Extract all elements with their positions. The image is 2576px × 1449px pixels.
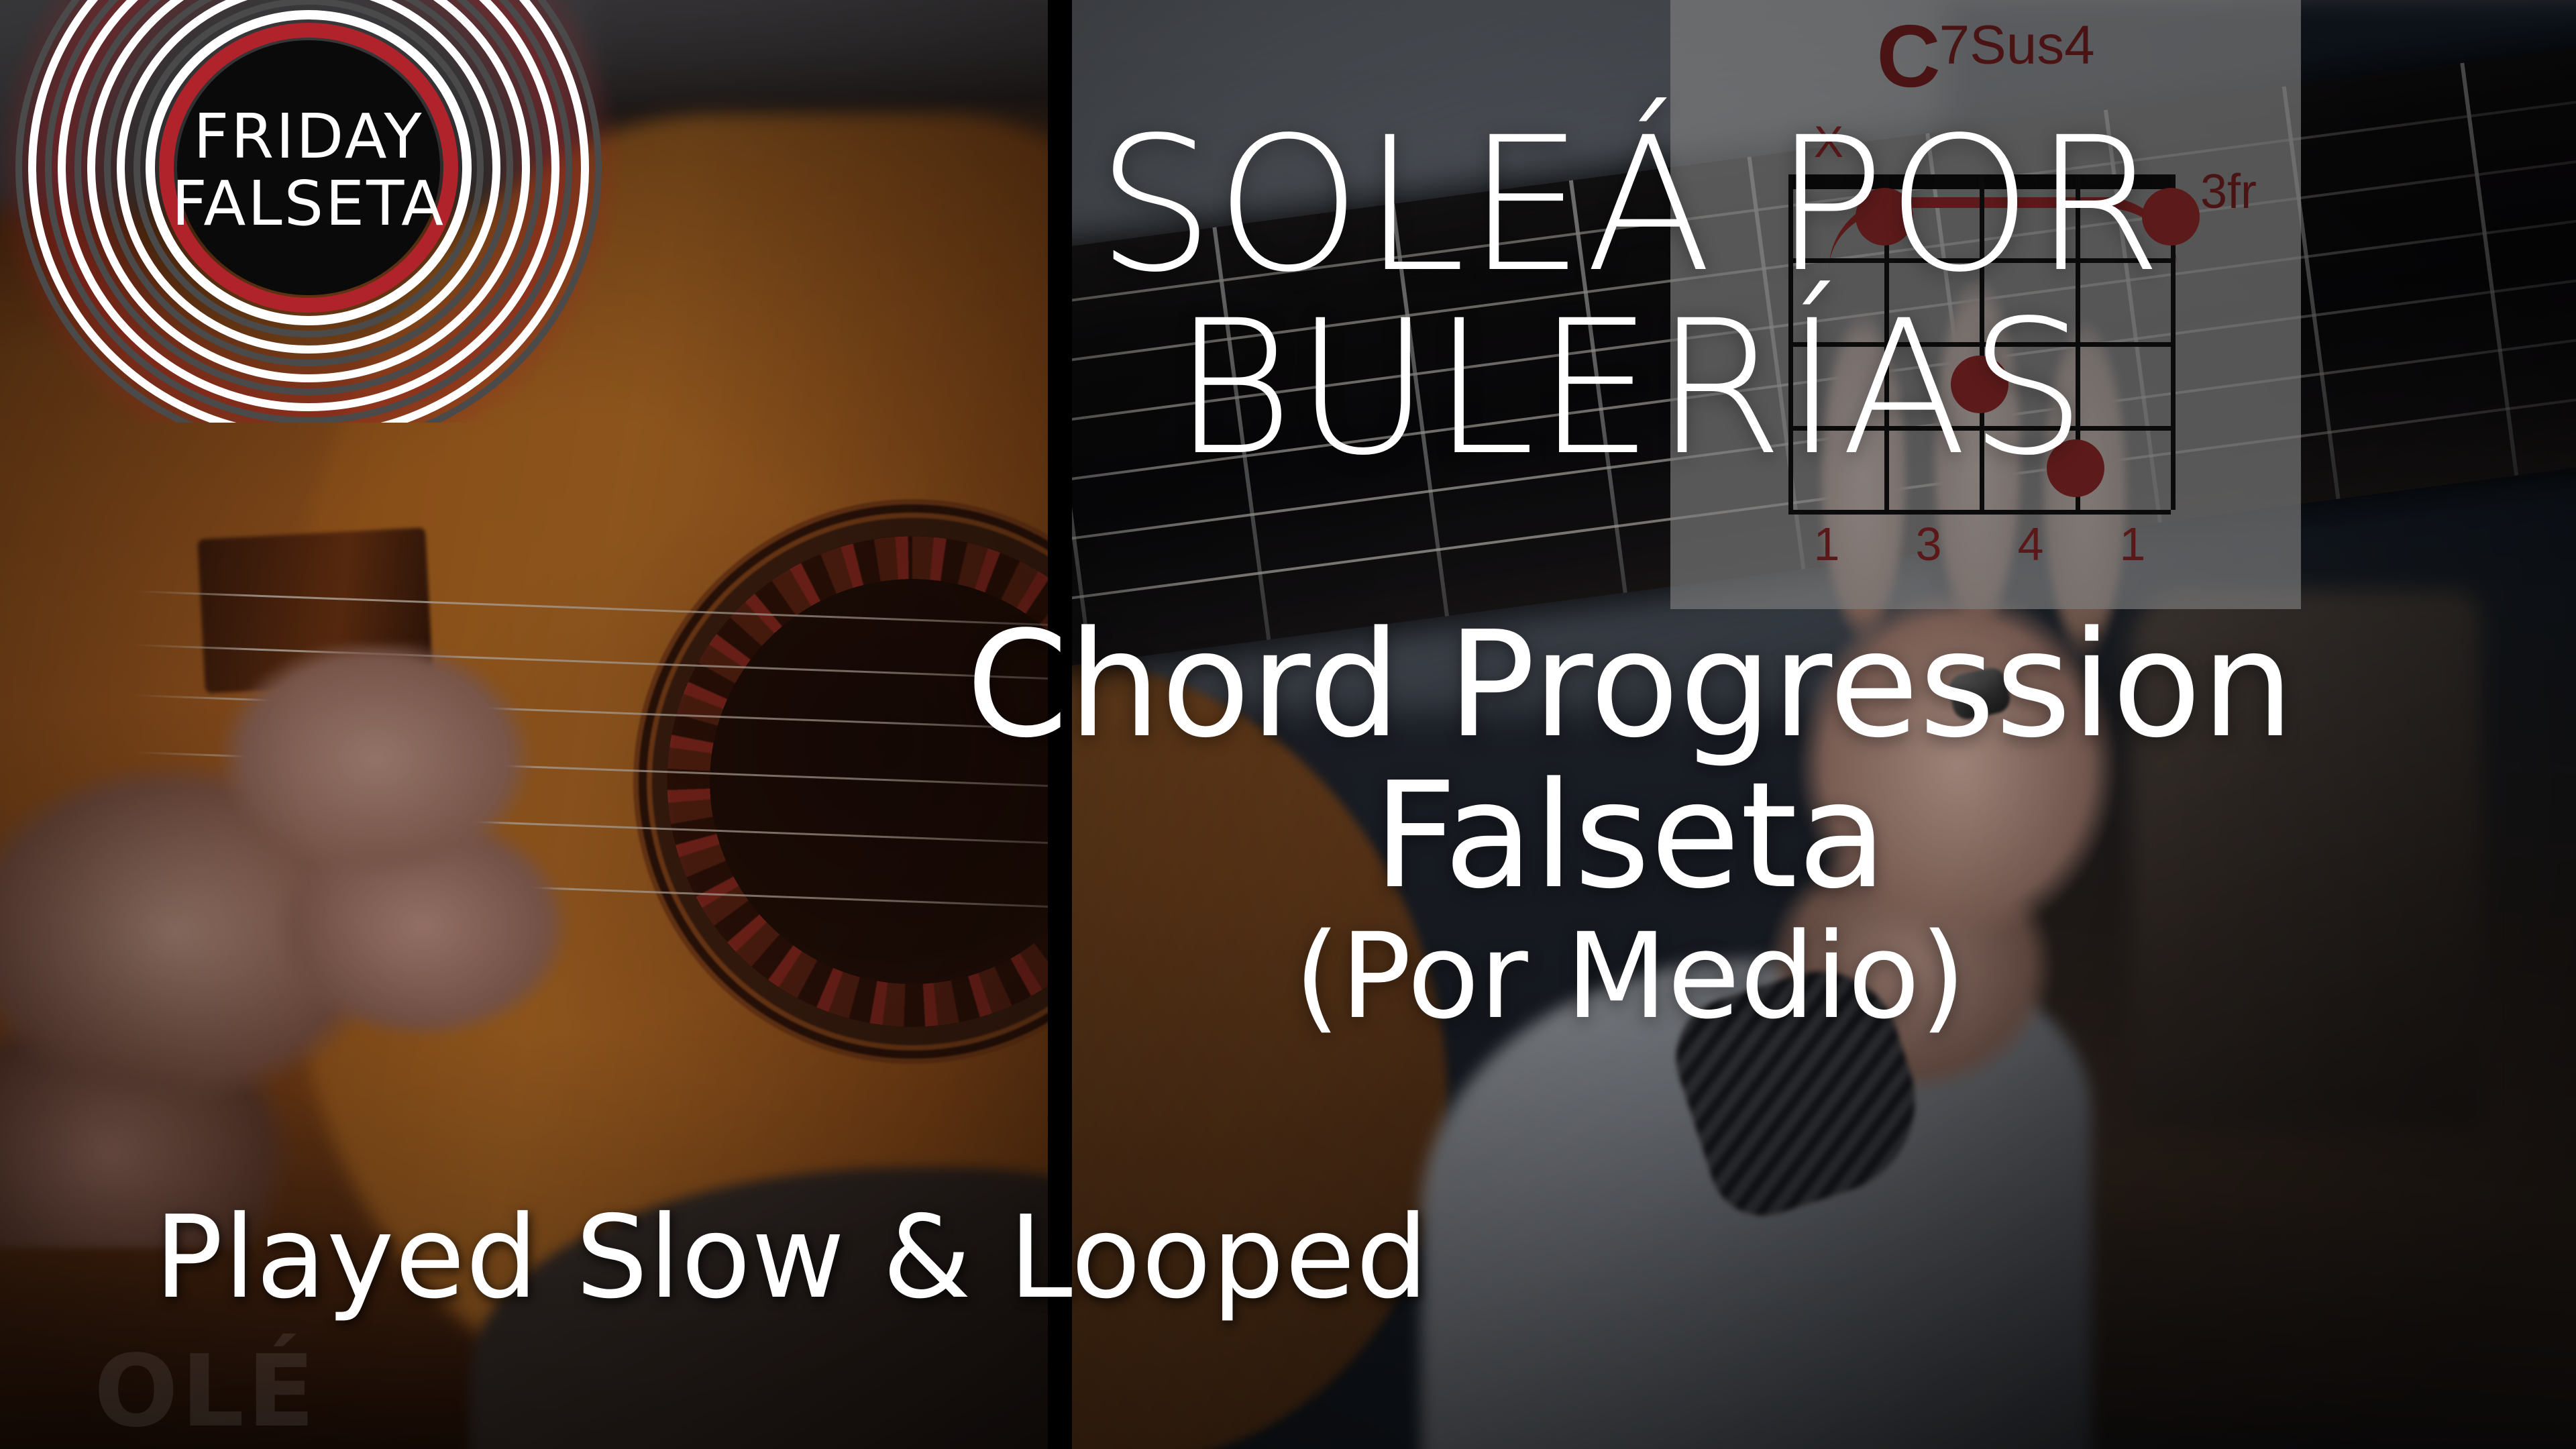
chord-finger-dot [2142,188,2200,246]
chord-finger-dot [1856,188,1913,246]
chord-quality: 7Sus4 [1939,15,2095,76]
chord-finger-dot [1951,356,2008,413]
chord-root: C [1876,7,1939,105]
chord-finger-number: 1 [1788,521,1865,568]
video-thumbnail: C7Sus4 X 3fr 1341 [0,0,2576,1449]
chord-finger-number: 3 [1890,521,1967,568]
chord-name-label: C7Sus4 [1670,12,2301,101]
chord-fret-line [1788,426,2171,431]
panel-divider [1048,0,1072,1449]
chord-fret-line [1788,342,2171,347]
friday-falseta-logo: FRIDAY FALSETA [0,0,657,423]
logo-line-1: FRIDAY [193,101,423,172]
chord-finger-numbers: 1341 [1788,521,2171,568]
chord-diagram-card: C7Sus4 X 3fr 1341 [1670,0,2301,609]
chord-finger-dot [2047,439,2104,497]
chord-fretboard-grid [1788,174,2171,510]
chord-fret-line [1788,258,2171,263]
chord-finger-number: 4 [1992,521,2069,568]
muted-string-icon: X [1814,119,1843,164]
chord-fret-line [1788,510,2171,515]
logo-line-2: FALSETA [172,168,445,239]
fret-position-label: 3fr [2200,168,2257,216]
chord-finger-number: 1 [2094,521,2171,568]
